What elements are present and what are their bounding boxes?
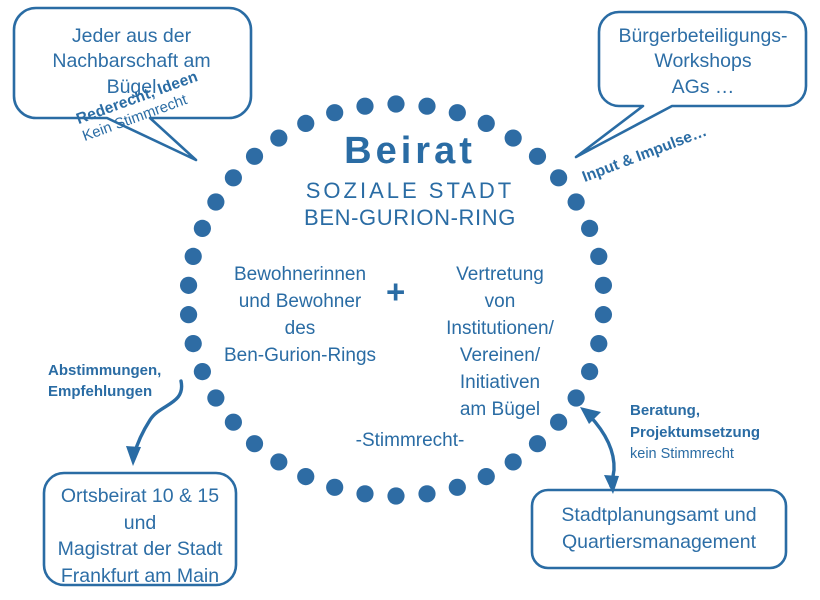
- box-bottom-right-text: Stadtplanungsamt undQuartiersmanagement: [532, 502, 786, 555]
- ring-dot: [418, 485, 435, 502]
- group-residents: Bewohnerinnenund BewohnerdesBen-Gurion-R…: [205, 262, 395, 370]
- bubble-top-right-text: Bürgerbeteiligungs-WorkshopsAGs …: [606, 24, 800, 100]
- box-bottom-left-text: Ortsbeirat 10 & 15undMagistrat der Stadt…: [44, 483, 236, 589]
- ring-dot: [581, 363, 598, 380]
- ring-dot: [326, 104, 343, 121]
- ring-dot: [449, 104, 466, 121]
- ring-dot: [387, 487, 404, 504]
- subtitle-ben-gurion-ring: BEN-GURION-RING: [0, 205, 820, 231]
- ring-dot: [590, 335, 607, 352]
- ring-dot: [326, 479, 343, 496]
- plus-icon: +: [386, 275, 405, 308]
- label-abstimmungen: Abstimmungen,Empfehlungen: [48, 360, 161, 403]
- diagram-canvas: Jeder aus derNachbarschaft amBügel Reder…: [0, 0, 820, 600]
- label-beratung-bold: Beratung,Projektumsetzung: [630, 400, 760, 444]
- ring-dot: [225, 414, 242, 431]
- ring-dot: [356, 485, 373, 502]
- ring-dot: [478, 468, 495, 485]
- ring-dot: [595, 306, 612, 323]
- group-institutions: VertretungvonInstitutionen/Vereinen/Init…: [425, 262, 575, 424]
- ring-dot: [595, 277, 612, 294]
- ring-dot: [505, 453, 522, 470]
- label-beratung-regular: kein Stimmrecht: [630, 444, 760, 465]
- ring-dot: [590, 248, 607, 265]
- bubble-top-left-text: Jeder aus derNachbarschaft amBügel: [24, 24, 239, 100]
- label-beratung: Beratung,Projektumsetzung kein Stimmrech…: [630, 400, 760, 465]
- ring-dot: [387, 95, 404, 112]
- ring-dot: [449, 479, 466, 496]
- ring-dot: [207, 389, 224, 406]
- ring-dot: [418, 98, 435, 115]
- ring-dot: [356, 98, 373, 115]
- ring-dot: [297, 468, 314, 485]
- ring-dot: [185, 248, 202, 265]
- ring-dot: [185, 335, 202, 352]
- page-title: Beirat: [0, 130, 820, 173]
- ring-dot: [270, 453, 287, 470]
- ring-dot: [180, 306, 197, 323]
- subtitle-soziale-stadt: SOZIALE STADT: [0, 178, 820, 204]
- ring-dot: [180, 277, 197, 294]
